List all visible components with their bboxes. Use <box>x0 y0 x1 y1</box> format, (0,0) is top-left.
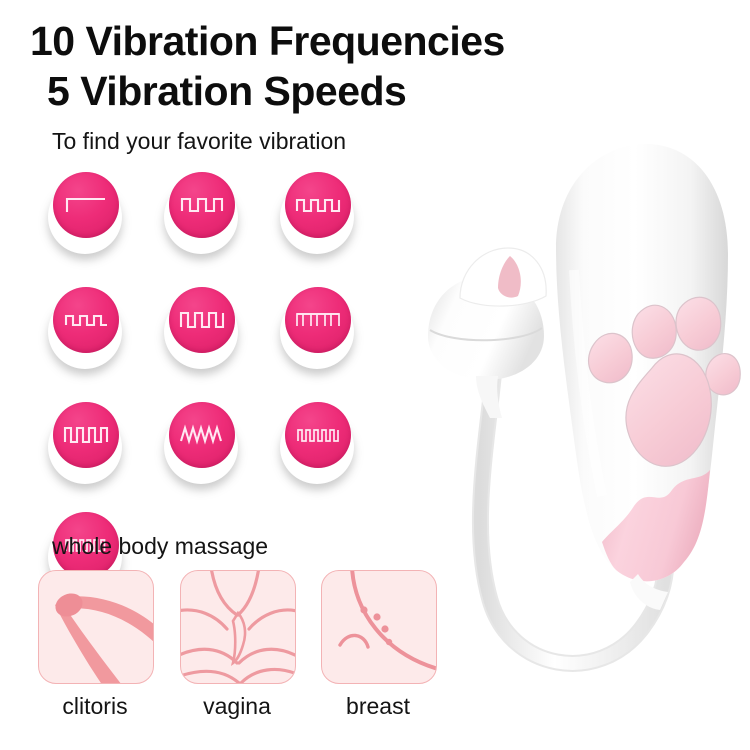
massage-zone-list: clitoris vagin <box>38 570 438 730</box>
waveform-pulse-4b-icon <box>53 287 119 353</box>
vibration-mode-button-8[interactable] <box>164 402 242 480</box>
vibration-mode-button-1[interactable] <box>48 172 126 250</box>
vibration-mode-button-6[interactable] <box>280 287 358 365</box>
cat-paw-vibrator-illustration <box>398 130 750 690</box>
button-cap <box>285 172 351 238</box>
waveform-steady-icon <box>53 172 119 238</box>
waveform-comb-9-icon <box>285 402 351 468</box>
vibration-mode-button-9[interactable] <box>280 402 358 480</box>
paw-toe-1 <box>632 305 676 358</box>
zone-label: breast <box>321 693 435 720</box>
zone-clitoris-icon <box>39 571 153 683</box>
button-cap <box>285 402 351 468</box>
paw-toe-2 <box>676 297 721 350</box>
vibration-mode-button-3[interactable] <box>280 172 358 250</box>
whole-body-massage-heading: whole body massage <box>52 533 268 560</box>
waveform-pulse-4-icon <box>285 172 351 238</box>
waveform-pulse-4c-icon <box>169 287 235 353</box>
page-title-line-1: 10 Vibration Frequencies <box>30 18 505 65</box>
button-cap <box>169 172 235 238</box>
massage-zone-item-vagina[interactable]: vagina <box>180 570 294 720</box>
vibration-mode-grid <box>48 172 358 517</box>
page-subtitle: To find your favorite vibration <box>52 128 346 155</box>
product-marketing-image: 10 Vibration Frequencies 5 Vibration Spe… <box>0 0 750 750</box>
waveform-pulse-wide-icon <box>169 172 235 238</box>
waveform-zigzag-icon <box>169 402 235 468</box>
vibration-mode-button-2[interactable] <box>164 172 242 250</box>
button-cap <box>53 402 119 468</box>
zone-vagina-icon <box>181 571 295 683</box>
zone-label: vagina <box>180 693 294 720</box>
zone-thumbnail <box>38 570 154 684</box>
waveform-comb-5-icon <box>285 287 351 353</box>
button-cap <box>169 287 235 353</box>
massage-zone-item-clitoris[interactable]: clitoris <box>38 570 152 720</box>
vibration-mode-button-4[interactable] <box>48 287 126 365</box>
zone-label: clitoris <box>38 693 152 720</box>
page-title-line-2: 5 Vibration Speeds <box>47 68 406 115</box>
button-cap <box>285 287 351 353</box>
product-photo <box>398 130 750 690</box>
waveform-pulse-5-icon <box>53 402 119 468</box>
button-cap <box>53 172 119 238</box>
button-cap <box>53 287 119 353</box>
vibration-mode-button-7[interactable] <box>48 402 126 480</box>
zone-thumbnail <box>180 570 296 684</box>
button-cap <box>169 402 235 468</box>
vibration-mode-button-5[interactable] <box>164 287 242 365</box>
paw-toe-4 <box>706 354 740 395</box>
